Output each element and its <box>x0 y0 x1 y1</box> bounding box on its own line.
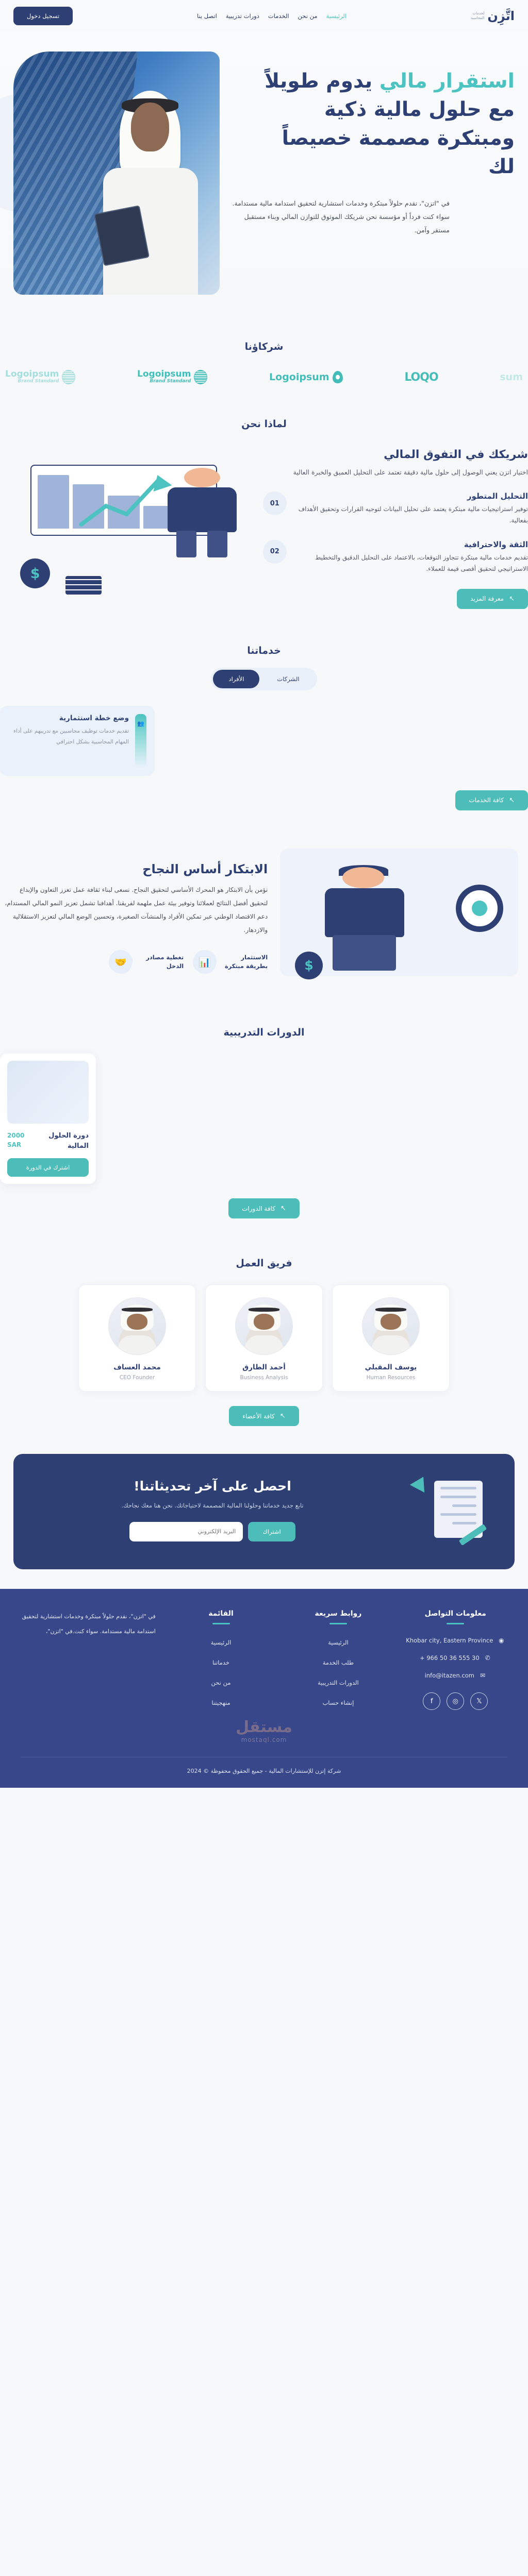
hero-media <box>13 46 220 326</box>
hero-title-rest: يدوم طويلاً <box>265 70 379 93</box>
team-member-role: CEO Founder <box>86 1375 188 1381</box>
team-member-name: أحمد الطارق <box>213 1363 315 1371</box>
team-card-2[interactable]: أحمد الطارق Business Analysis <box>205 1284 323 1392</box>
avatar <box>235 1297 293 1355</box>
arrow-up-left-icon-courses: ↖ <box>280 1205 286 1212</box>
phone-icon: ✆ <box>484 1654 491 1662</box>
service-card[interactable]: 👥 وضع خطة استثمارية تقديم خدمات توظيف مح… <box>0 706 155 776</box>
footer-contact-location: Khobar city, Eastern Province ◉ <box>404 1637 507 1644</box>
course-card[interactable]: دورة الحلول المالية 2000 SAR اشترك في ال… <box>0 1054 96 1184</box>
brand-subtitle: لخدمات المحاسبة <box>471 11 485 21</box>
hand-money-icon: 🤝 <box>109 950 133 974</box>
partner-logo-5-sub: Brand Standard <box>5 379 59 384</box>
newsletter-section: احصل على آخر تحديثاتنا! تابع جديد خدماتن… <box>13 1454 515 1569</box>
dollar-coin-icon: $ <box>20 558 50 588</box>
course-subscribe-button[interactable]: اشترك في الدورة <box>7 1158 89 1177</box>
innovation-features: الاستثمار بطريقة مبتكرة 📊 تغطية مصادر ال… <box>0 950 268 974</box>
team-section: فريق العمل يوسف المقبلي Human Resources … <box>0 1239 528 1449</box>
course-price-amount: 2000 <box>7 1132 24 1139</box>
main-nav: الرئيسية من نحن الخدمات دورات تدريبية ات… <box>197 12 346 20</box>
whyus-section: لماذا نحن شريكك في التفوق المالي اختيار … <box>0 407 528 630</box>
arrow-up-left-icon: ↖ <box>509 595 515 603</box>
coin-stack-icon <box>65 576 102 595</box>
location-pin-icon: ◉ <box>498 1637 505 1644</box>
tab-individuals[interactable]: الأفراد <box>213 670 259 688</box>
site-footer: معلومات التواصل Khobar city, Eastern Pro… <box>0 1589 528 1788</box>
footer-rule-3 <box>212 1623 230 1624</box>
whyus-feature-2: 02 الثقة والاحترافية تقديم خدمات مالية م… <box>263 540 528 574</box>
users-icon: 👥 <box>135 714 146 768</box>
footer-rule-2 <box>329 1623 347 1624</box>
team-cta-label: كافة الأعضاء <box>242 1413 274 1420</box>
whyus-feature-2-number: 02 <box>263 540 287 564</box>
footer-copyright: شركة إتزن للإستشارات المالية - جميع الحق… <box>21 1757 507 1788</box>
partner-logo-1-text: sum <box>500 371 523 383</box>
nav-item-home[interactable]: الرئيسية <box>326 12 347 20</box>
hero-title-line3: ومبتكرة مصممة خصيصاً <box>282 127 515 150</box>
footer-contact-phone[interactable]: + 966 50 36 555 30 ✆ <box>404 1654 507 1662</box>
paper-plane-icon <box>410 1473 431 1493</box>
footer-menu-column: القائمة الرئيسية خدماتنا من نحن منهجيتنا <box>169 1609 273 1717</box>
innovation-copy: الابتكار أساس النجاح نؤمن بأن الابتكار ه… <box>0 862 268 974</box>
login-button[interactable]: تسجيل دخول <box>13 7 73 25</box>
whyus-feature-2-title: الثقة والاحترافية <box>293 540 528 549</box>
innovation-section: $ الابتكار أساس النجاح نؤمن بأن الابتكار… <box>0 831 528 1008</box>
whyus-feature-1: 01 التحليل المتطور توفير استراتيجيات مال… <box>263 492 528 526</box>
water-drop-icon <box>333 371 343 383</box>
hero-title: استقرار مالي يدوم طويلاً مع حلول مالية ذ… <box>228 67 515 181</box>
whyus-feature-1-desc: توفير استراتيجيات مالية مبتكرة يعتمد على… <box>293 503 528 526</box>
footer-menu-link-2[interactable]: خدماتنا <box>212 1659 229 1666</box>
whyus-learn-more-button[interactable]: ↖ معرفة المزيد <box>457 589 528 609</box>
footer-menu-link-3[interactable]: من نحن <box>211 1679 231 1686</box>
services-cta-label: كافة الخدمات <box>469 796 504 804</box>
facebook-icon[interactable]: f <box>423 1692 440 1710</box>
hero-description: في "اتزن"، نقدم حلولاً مبتكرة وخدمات است… <box>228 197 450 238</box>
hero-section: استقرار مالي يدوم طويلاً مع حلول مالية ذ… <box>0 32 528 326</box>
innovation-description: نؤمن بأن الابتكار هو المحرك الأساسي لتحق… <box>0 884 268 937</box>
partner-logo-4: Logoipsum Brand Standard <box>137 370 207 384</box>
striped-oval-icon-2 <box>62 370 75 384</box>
whyus-copy: شريكك في التفوق المالي اختيار اتزن يعني … <box>263 443 528 609</box>
striped-oval-icon <box>194 370 207 384</box>
watermark-english: mostaql.com <box>21 1736 507 1743</box>
hero-photo <box>13 52 220 295</box>
service-card-title: وضع خطة استثمارية <box>8 714 129 722</box>
partners-title: شركاؤنا <box>0 341 528 352</box>
partner-logo-2: LOQO <box>404 371 438 384</box>
dollar-coin-icon-2: $ <box>295 952 323 979</box>
innovation-feature-2: الاستثمار بطريقة مبتكرة 📊 <box>193 950 268 974</box>
brand-sub-line2: المحاسبة <box>471 16 485 20</box>
whyus-feature-1-title: التحليل المتطور <box>293 492 528 501</box>
course-thumbnail <box>7 1061 89 1124</box>
partner-logo-3: Logoipsum <box>269 371 343 383</box>
footer-quick-link-3[interactable]: الدورات التدريبية <box>318 1679 359 1686</box>
brand-logo[interactable]: اتَّزِن لخدمات المحاسبة <box>471 10 515 22</box>
courses-row: دورة الحلول المالية 2000 SAR اشترك في ال… <box>0 1054 528 1184</box>
courses-cta-label: كافة الدورات <box>242 1205 275 1212</box>
footer-quick-link-2[interactable]: طلب الخدمة <box>323 1659 354 1666</box>
newsletter-description: تابع جديد خدماتنا وحلولنا المالية المصمم… <box>29 1500 396 1511</box>
all-courses-button[interactable]: ↖ كافة الدورات <box>228 1198 300 1218</box>
partner-logo-5: Logoipsum Brand Standard <box>5 370 75 384</box>
partner-logo-4-sub: Brand Standard <box>137 379 191 384</box>
footer-rule <box>447 1623 464 1624</box>
nav-item-services[interactable]: الخدمات <box>268 12 289 20</box>
newsletter-illustration <box>406 1471 499 1549</box>
hero-title-accent: استقرار مالي <box>379 70 515 93</box>
services-title: خدماتنا <box>0 645 528 656</box>
footer-menu-title: القائمة <box>169 1609 273 1618</box>
service-card-desc: تقديم خدمات توظيف محاسبين مع تدريبهم على… <box>8 726 129 748</box>
whyus-feature-1-number: 01 <box>263 492 287 515</box>
innovation-illustration: $ <box>280 849 528 988</box>
whyus-subtitle: اختيار اتزن يعني الوصول إلى حلول مالية د… <box>263 466 528 478</box>
course-name: دورة الحلول المالية <box>28 1131 89 1151</box>
footer-contact-phone-text: + 966 50 36 555 30 <box>420 1654 480 1662</box>
team-card-3[interactable]: محمد العساف CEO Founder <box>78 1284 196 1392</box>
courses-section: الدورات التدريبية دورة الحلول المالية 20… <box>0 1008 528 1239</box>
innovation-heading: الابتكار أساس النجاح <box>0 862 268 876</box>
mail-icon: ✉ <box>479 1672 486 1679</box>
x-twitter-icon[interactable]: 𝕏 <box>470 1692 488 1710</box>
brand-sub-line1: لخدمات <box>473 11 485 15</box>
partner-logo-1: sum <box>500 371 523 383</box>
partners-section: شركاؤنا sum LOQO Logoipsum Logoipsum Bra… <box>0 326 528 407</box>
footer-quick-link-4[interactable]: إنشاء حساب <box>322 1699 354 1706</box>
footer-about-column: في "اتزن"، نقدم حلولاً مبتكرة وخدمات است… <box>21 1609 156 1639</box>
newsletter-form: اشتراك <box>29 1522 396 1541</box>
services-card-grid: 👥 وضع خطة استثمارية تقديم خدمات توظيف مح… <box>0 706 528 776</box>
team-member-role: Human Resources <box>340 1375 442 1381</box>
hero-title-line2: مع حلول مالية ذكية <box>324 98 515 121</box>
target-bullseye-icon <box>456 885 503 932</box>
instagram-icon[interactable]: ◎ <box>447 1692 464 1710</box>
tab-companies[interactable]: الشركات <box>261 670 315 688</box>
footer-contact-email-text: info@itazen.com <box>425 1672 474 1679</box>
footer-quick-link-1[interactable]: الرئيسية <box>328 1639 349 1646</box>
growth-chart-icon: 📊 <box>193 950 217 974</box>
footer-about-text: في "اتزن"، نقدم حلولاً مبتكرة وخدمات است… <box>21 1609 156 1639</box>
courses-title: الدورات التدريبية <box>0 1027 528 1038</box>
newsletter-subscribe-button[interactable]: اشتراك <box>248 1522 295 1541</box>
brand-mark: اتَّزِن <box>487 10 515 22</box>
footer-quick-title: روابط سريعة <box>286 1609 390 1618</box>
all-services-button[interactable]: ↖ كافة الخدمات <box>455 790 528 810</box>
newsletter-email-input[interactable] <box>129 1522 243 1541</box>
analyst-person-illustration <box>157 468 247 557</box>
avatar <box>108 1297 166 1355</box>
avatar <box>362 1297 420 1355</box>
hero-title-line4: لك <box>488 155 515 178</box>
nav-item-about[interactable]: من نحن <box>298 12 318 20</box>
newsletter-heading: احصل على آخر تحديثاتنا! <box>29 1479 396 1494</box>
footer-menu-link-4[interactable]: منهجيتنا <box>211 1699 230 1706</box>
partners-logo-row: sum LOQO Logoipsum Logoipsum Brand Stand… <box>0 370 528 384</box>
course-price: 2000 SAR <box>7 1131 24 1150</box>
innovation-person-illustration <box>315 865 414 971</box>
innovation-feature-1: تغطية مصادر الدخل 🤝 <box>109 950 184 974</box>
team-member-name: محمد العساف <box>86 1363 188 1371</box>
footer-socials: 𝕏 ◎ f <box>404 1692 507 1710</box>
mostaql-watermark: مستقل mostaql.com <box>21 1718 507 1743</box>
innovation-feature-1-label: تغطية مصادر الدخل <box>137 953 184 971</box>
whyus-feature-2-desc: تقديم خدمات مالية مبتكرة تتجاوز التوقعات… <box>293 552 528 574</box>
footer-contact-email[interactable]: info@itazen.com ✉ <box>404 1672 507 1679</box>
whyus-eyebrow: لماذا نحن <box>0 418 528 430</box>
hero-copy: استقرار مالي يدوم طويلاً مع حلول مالية ذ… <box>225 46 515 326</box>
partner-logo-4-text: Logoipsum <box>137 370 191 379</box>
nav-item-contact[interactable]: اتصل بنا <box>197 12 217 20</box>
team-title: فريق العمل <box>0 1258 528 1269</box>
whyus-cta-label: معرفة المزيد <box>470 595 504 602</box>
team-row: يوسف المقبلي Human Resources أحمد الطارق… <box>0 1284 528 1392</box>
arrow-up-left-icon-services: ↖ <box>509 796 515 804</box>
arrow-up-left-icon-team: ↖ <box>280 1412 286 1420</box>
innovation-feature-2-label: الاستثمار بطريقة مبتكرة <box>221 953 268 971</box>
course-price-currency: SAR <box>7 1141 21 1148</box>
footer-menu-link-1[interactable]: الرئيسية <box>211 1639 232 1646</box>
services-tabs: الشركات الأفراد <box>0 668 528 690</box>
partner-logo-2-text: LOQO <box>404 371 438 384</box>
all-members-button[interactable]: ↖ كافة الأعضاء <box>229 1406 299 1426</box>
whyus-illustration: $ <box>0 443 253 598</box>
watermark-arabic: مستقل <box>21 1718 507 1736</box>
team-card-1[interactable]: يوسف المقبلي Human Resources <box>332 1284 450 1392</box>
hero-person-illustration <box>92 91 207 295</box>
footer-contact-title: معلومات التواصل <box>404 1609 507 1618</box>
footer-contact-location-text: Khobar city, Eastern Province <box>406 1637 493 1644</box>
partner-logo-5-text: Logoipsum <box>5 370 59 379</box>
site-header: اتَّزِن لخدمات المحاسبة الرئيسية من نحن … <box>0 0 528 32</box>
nav-item-courses[interactable]: دورات تدريبية <box>226 12 259 20</box>
team-member-name: يوسف المقبلي <box>340 1363 442 1371</box>
team-member-role: Business Analysis <box>213 1375 315 1381</box>
whyus-heading: شريكك في التفوق المالي <box>263 446 528 463</box>
footer-contact-column: معلومات التواصل Khobar city, Eastern Pro… <box>404 1609 507 1710</box>
partner-logo-3-text: Logoipsum <box>269 371 329 383</box>
footer-quick-links-column: روابط سريعة الرئيسية طلب الخدمة الدورات … <box>286 1609 390 1717</box>
services-section: خدماتنا الشركات الأفراد 👥 وضع خطة استثما… <box>0 630 528 831</box>
